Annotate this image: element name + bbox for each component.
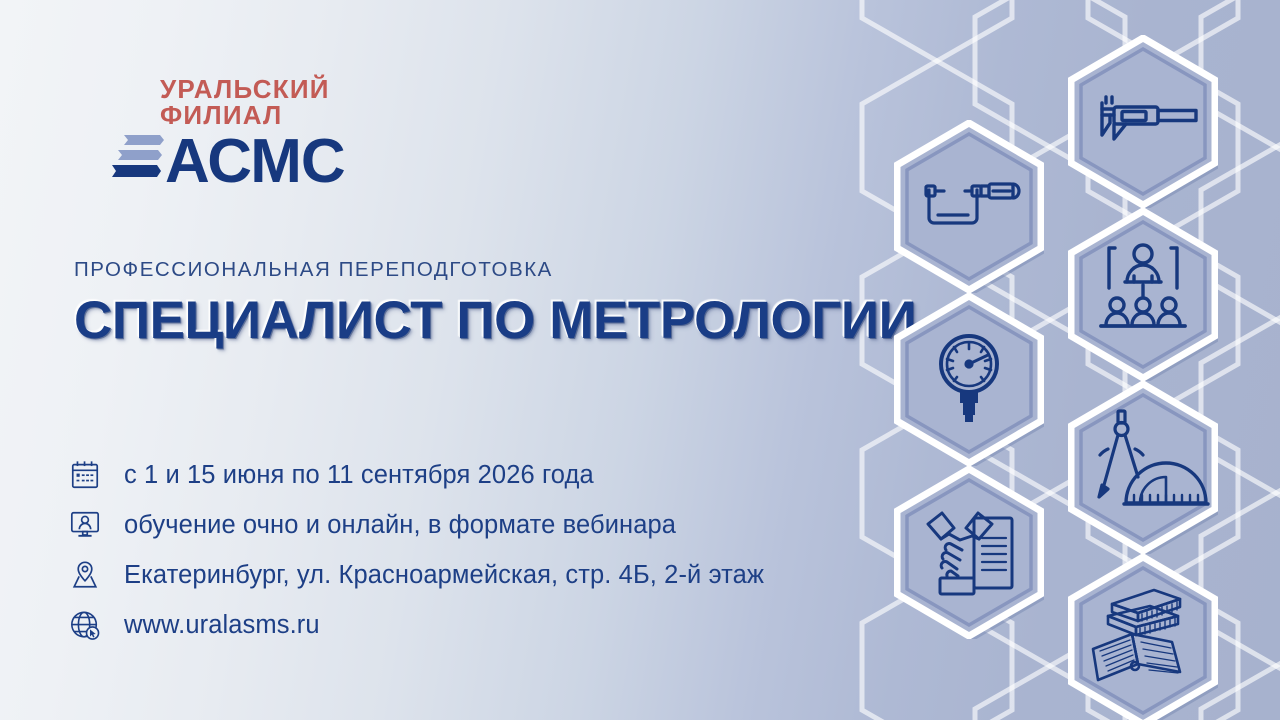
hex-icon-panel bbox=[880, 0, 1280, 720]
hex-tile-pressure-gauge bbox=[894, 293, 1044, 466]
program-title: СПЕЦИАЛИСТ ПО МЕТРОЛОГИИ bbox=[74, 292, 864, 349]
info-text-address: Екатеринбург, ул. Красноармейская, стр. … bbox=[124, 561, 764, 590]
hex-tile-micrometer bbox=[894, 120, 1044, 293]
info-row-website: www.uralasms.ru bbox=[68, 600, 868, 650]
info-text-website: www.uralasms.ru bbox=[124, 611, 320, 640]
hex-tile-audience bbox=[1068, 208, 1218, 381]
stacked-books-icon bbox=[108, 130, 170, 186]
info-row-dates: с 1 и 15 июня по 11 сентября 2026 года bbox=[68, 450, 868, 500]
info-list: с 1 и 15 июня по 11 сентября 2026 года о… bbox=[68, 450, 868, 650]
logo-branch-name: УРАЛЬСКИЙ ФИЛИАЛ bbox=[160, 78, 413, 129]
hex-tile-drafting bbox=[1068, 381, 1218, 554]
info-text-format: обучение очно и онлайн, в формате вебина… bbox=[124, 511, 676, 540]
promo-banner: УРАЛЬСКИЙ ФИЛИАЛ АСМС ПРОФЕССИОНАЛЬНАЯ П… bbox=[0, 0, 1280, 720]
map-pin-icon bbox=[68, 558, 102, 592]
globe-cursor-icon bbox=[68, 608, 102, 642]
logo-abbreviation: АСМС bbox=[165, 136, 345, 188]
info-row-format: обучение очно и онлайн, в формате вебина… bbox=[68, 500, 868, 550]
hex-tile-agreement bbox=[894, 466, 1044, 639]
hex-tile-caliper bbox=[1068, 35, 1218, 208]
info-text-dates: с 1 и 15 июня по 11 сентября 2026 года bbox=[124, 461, 594, 490]
hex-tile-books bbox=[1068, 554, 1218, 720]
headline-block: ПРОФЕССИОНАЛЬНАЯ ПЕРЕПОДГОТОВКА СПЕЦИАЛИ… bbox=[74, 258, 864, 349]
logo: УРАЛЬСКИЙ ФИЛИАЛ АСМС bbox=[108, 78, 408, 168]
left-content-column: УРАЛЬСКИЙ ФИЛИАЛ АСМС ПРОФЕССИОНАЛЬНАЯ П… bbox=[0, 0, 880, 720]
calendar-icon bbox=[68, 458, 102, 492]
program-kicker: ПРОФЕССИОНАЛЬНАЯ ПЕРЕПОДГОТОВКА bbox=[74, 258, 864, 282]
webinar-monitor-icon bbox=[68, 508, 102, 542]
info-row-address: Екатеринбург, ул. Красноармейская, стр. … bbox=[68, 550, 868, 600]
